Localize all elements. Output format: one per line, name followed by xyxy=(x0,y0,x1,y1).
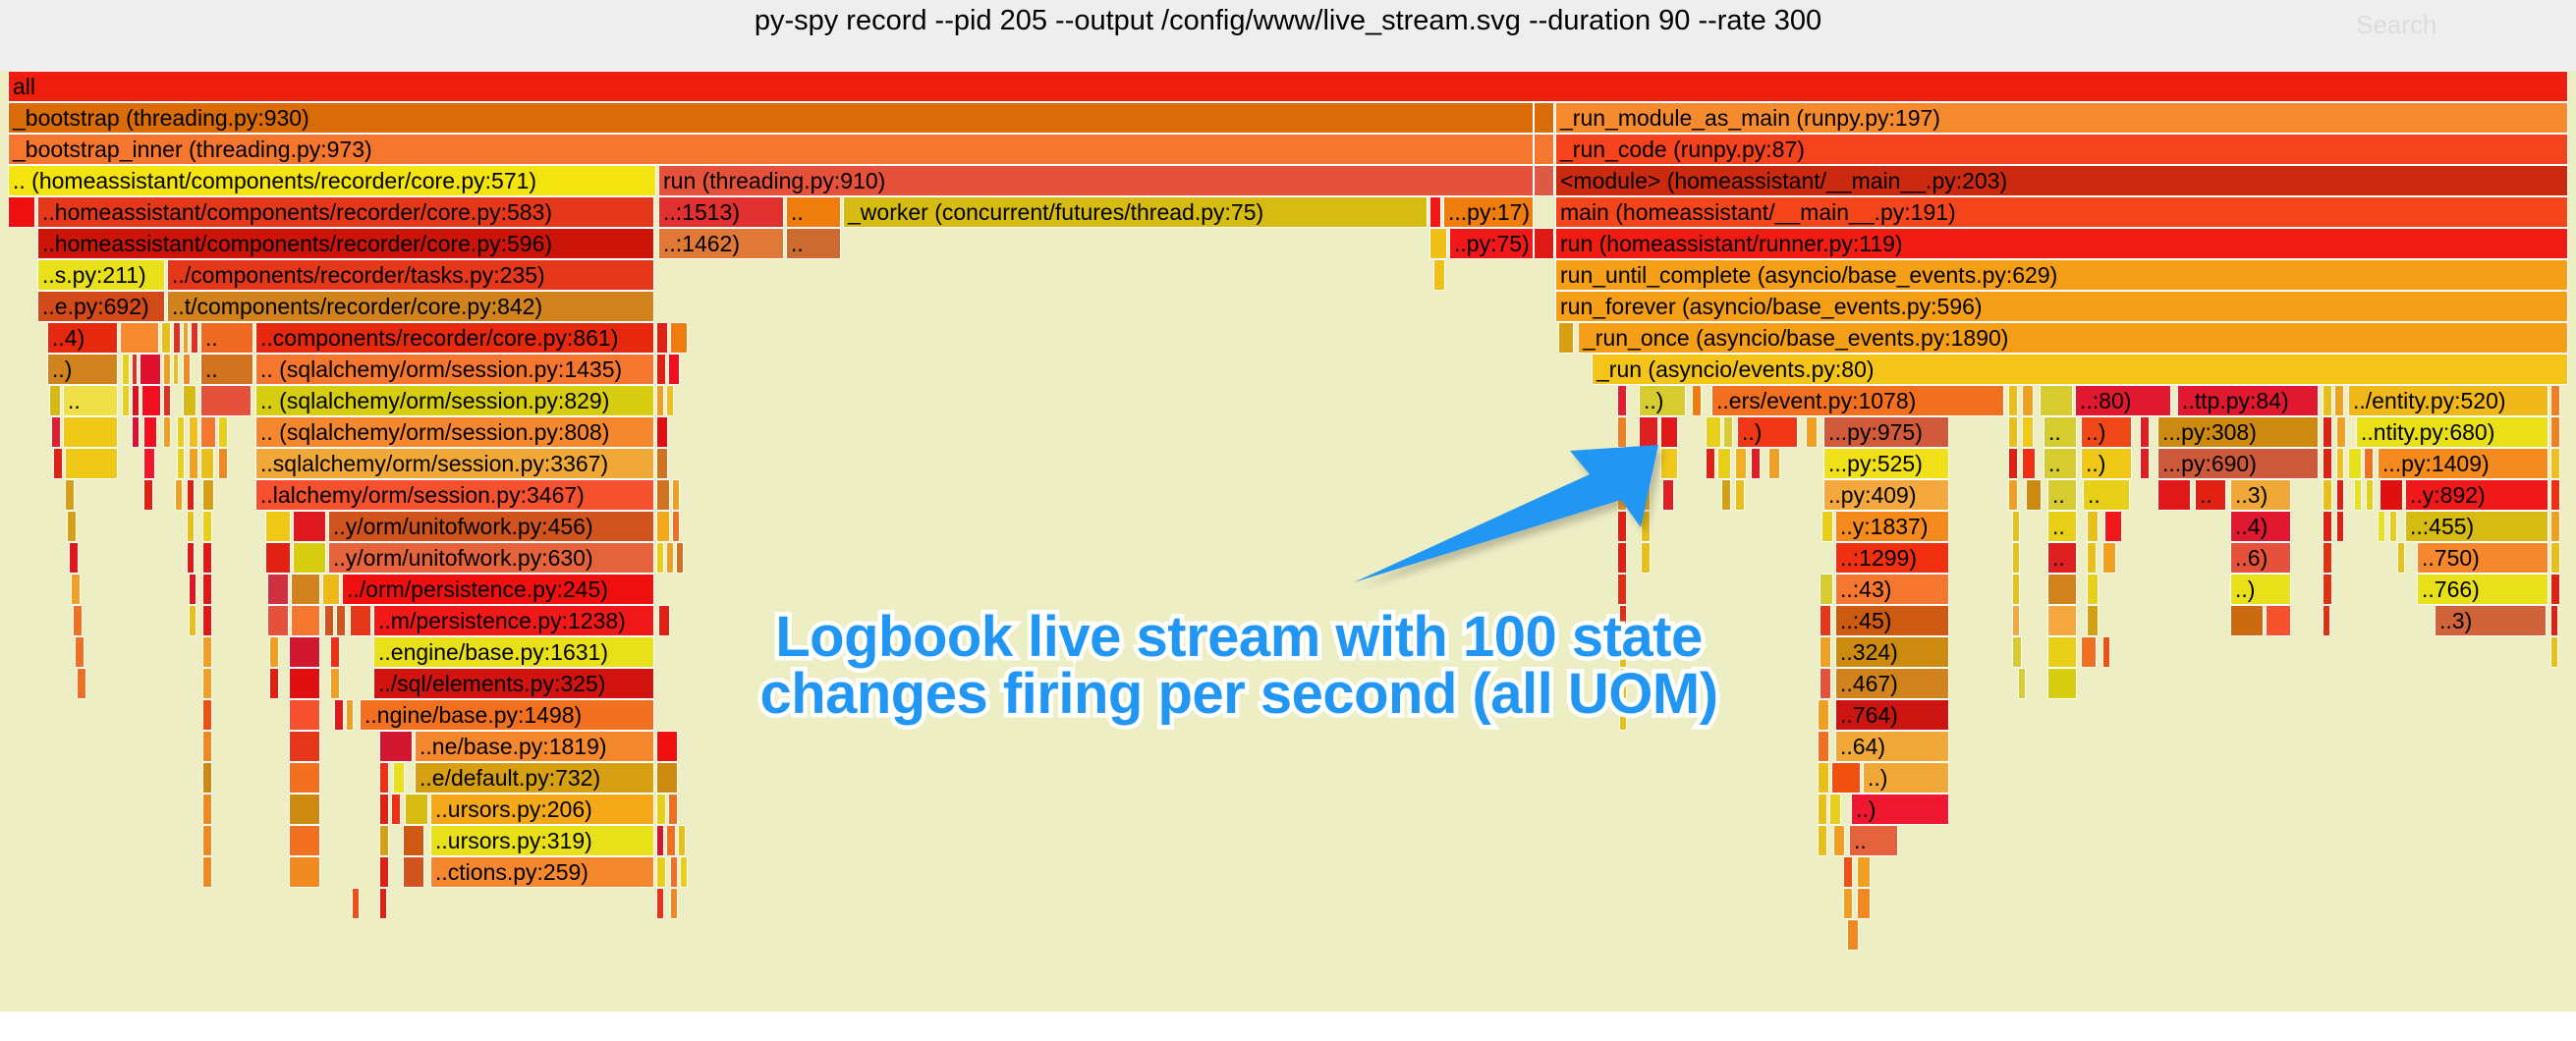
flame-frame-unlabeled[interactable] xyxy=(183,385,196,416)
flame-frame[interactable]: ../sql/elements.py:325) xyxy=(373,668,654,699)
flame-frame[interactable]: ..:455) xyxy=(2405,511,2548,542)
flame-frame-unlabeled[interactable] xyxy=(379,856,389,888)
flame-frame[interactable]: ..4) xyxy=(2230,511,2291,542)
flame-frame[interactable]: ..ursors.py:319) xyxy=(430,825,654,856)
flame-frame[interactable]: all xyxy=(8,71,2568,102)
flame-frame[interactable]: ..:1462) xyxy=(658,228,784,259)
flame-frame-unlabeled[interactable] xyxy=(289,762,320,794)
flame-frame[interactable]: ..:1513) xyxy=(658,196,784,228)
flame-frame-unlabeled[interactable] xyxy=(2008,479,2018,511)
flame-frame-unlabeled[interactable] xyxy=(2550,416,2560,448)
flame-frame-unlabeled[interactable] xyxy=(1843,888,1853,919)
flame-frame-unlabeled[interactable] xyxy=(161,322,171,354)
flame-frame-unlabeled[interactable] xyxy=(656,794,666,825)
flame-frame[interactable]: _bootstrap (threading.py:930) xyxy=(8,102,1534,134)
flame-frame-unlabeled[interactable] xyxy=(2336,511,2344,542)
flame-frame-unlabeled[interactable] xyxy=(2040,385,2073,416)
flame-frame-unlabeled[interactable] xyxy=(2550,448,2560,479)
flame-frame[interactable]: ..e.py:692) xyxy=(37,291,165,322)
flame-frame-unlabeled[interactable] xyxy=(202,825,212,856)
flame-frame-unlabeled[interactable] xyxy=(1619,605,1627,636)
flame-frame[interactable]: _bootstrap_inner (threading.py:973) xyxy=(8,134,1534,165)
flame-frame-unlabeled[interactable] xyxy=(672,511,680,542)
flame-frame-unlabeled[interactable] xyxy=(73,605,83,636)
flame-frame[interactable]: ..) xyxy=(47,354,118,385)
flame-frame-unlabeled[interactable] xyxy=(1818,794,1827,825)
flame-frame[interactable]: ...py:525) xyxy=(1823,448,1949,479)
flame-frame-unlabeled[interactable] xyxy=(656,542,664,574)
flame-frame-unlabeled[interactable] xyxy=(379,888,387,919)
flame-frame-unlabeled[interactable] xyxy=(2047,668,2077,699)
flame-frame-unlabeled[interactable] xyxy=(189,574,196,605)
flame-frame-unlabeled[interactable] xyxy=(267,574,289,605)
flame-frame-unlabeled[interactable] xyxy=(1818,699,1829,731)
flame-frame-unlabeled[interactable] xyxy=(2012,574,2020,605)
flame-frame-unlabeled[interactable] xyxy=(2087,605,2099,636)
flame-frame-unlabeled[interactable] xyxy=(289,636,320,668)
flame-frame-unlabeled[interactable] xyxy=(1829,794,1841,825)
flame-frame[interactable]: ..324) xyxy=(1835,636,1949,668)
flame-frame-unlabeled[interactable] xyxy=(379,731,413,762)
flame-frame-unlabeled[interactable] xyxy=(163,385,171,416)
flame-frame-unlabeled[interactable] xyxy=(187,511,195,542)
flame-frame[interactable]: ../components/recorder/tasks.py:235) xyxy=(167,259,654,291)
flame-frame-unlabeled[interactable] xyxy=(189,605,196,636)
flame-frame[interactable]: _run_code (runpy.py:87) xyxy=(1555,134,2568,165)
flame-frame-unlabeled[interactable] xyxy=(656,416,668,448)
flame-frame-unlabeled[interactable] xyxy=(1857,856,1871,888)
flame-frame-unlabeled[interactable] xyxy=(2012,605,2020,636)
flame-frame[interactable]: ..engine/base.py:1631) xyxy=(373,636,654,668)
flame-frame-unlabeled[interactable] xyxy=(202,479,214,511)
flame-frame-unlabeled[interactable] xyxy=(2323,385,2332,416)
flame-frame[interactable]: ..:45) xyxy=(1835,605,1949,636)
flame-frame-unlabeled[interactable] xyxy=(1706,448,1715,479)
flame-frame-unlabeled[interactable] xyxy=(140,354,161,385)
flame-frame[interactable]: ..) xyxy=(1639,385,1686,416)
flame-frame[interactable]: ..750) xyxy=(2417,542,2548,574)
flame-frame[interactable]: ..:43) xyxy=(1835,574,1949,605)
flame-frame-unlabeled[interactable] xyxy=(293,542,326,574)
flame-frame-unlabeled[interactable] xyxy=(2323,605,2330,636)
flame-frame-unlabeled[interactable] xyxy=(352,888,360,919)
flame-frame-unlabeled[interactable] xyxy=(1723,416,1733,448)
flame-frame[interactable]: ..ursors.py:206) xyxy=(430,794,654,825)
flame-frame-unlabeled[interactable] xyxy=(2336,416,2346,448)
flame-frame[interactable]: .. xyxy=(200,354,253,385)
flame-frame[interactable]: ..e/default.py:732) xyxy=(415,762,654,794)
flame-frame[interactable]: _worker (concurrent/futures/thread.py:75… xyxy=(843,196,1428,228)
flame-frame[interactable]: ../entity.py:520) xyxy=(2348,385,2548,416)
flame-frame[interactable]: ..467) xyxy=(1835,668,1949,699)
flame-frame[interactable]: .. (sqlalchemy/orm/session.py:829) xyxy=(255,385,654,416)
flame-frame-unlabeled[interactable] xyxy=(656,385,664,416)
flame-frame-unlabeled[interactable] xyxy=(163,416,171,448)
flame-frame-unlabeled[interactable] xyxy=(668,354,680,385)
flame-frame[interactable]: ..homeassistant/components/recorder/core… xyxy=(37,196,654,228)
flame-frame-unlabeled[interactable] xyxy=(163,354,171,385)
flame-frame-unlabeled[interactable] xyxy=(2012,542,2020,574)
flame-frame-unlabeled[interactable] xyxy=(187,542,195,574)
flame-frame-unlabeled[interactable] xyxy=(218,416,228,448)
flame-frame-unlabeled[interactable] xyxy=(1619,636,1627,668)
flame-frame[interactable]: ..y/orm/unitofwork.py:630) xyxy=(328,542,654,574)
flame-frame-unlabeled[interactable] xyxy=(1721,479,1731,511)
flame-frame-unlabeled[interactable] xyxy=(2336,479,2344,511)
flame-frame-unlabeled[interactable] xyxy=(1847,919,1859,951)
flame-frame-unlabeled[interactable] xyxy=(183,354,191,385)
flame-frame[interactable]: ..764) xyxy=(1835,699,1949,731)
flame-frame-unlabeled[interactable] xyxy=(403,856,424,888)
flame-frame-unlabeled[interactable] xyxy=(346,699,354,731)
flame-frame[interactable]: main (homeassistant/__main__.py:191) xyxy=(1555,196,2568,228)
flame-frame-unlabeled[interactable] xyxy=(2550,511,2560,542)
flame-frame-unlabeled[interactable] xyxy=(2266,605,2291,636)
flame-frame-unlabeled[interactable] xyxy=(1843,856,1853,888)
flame-frame-unlabeled[interactable] xyxy=(2012,636,2022,668)
flame-frame-unlabeled[interactable] xyxy=(672,479,680,511)
flame-frame-unlabeled[interactable] xyxy=(656,888,664,919)
flame-frame-unlabeled[interactable] xyxy=(202,762,212,794)
flame-frame-unlabeled[interactable] xyxy=(656,856,666,888)
flame-frame-unlabeled[interactable] xyxy=(1617,542,1627,574)
flame-frame-unlabeled[interactable] xyxy=(1617,385,1627,416)
flame-frame[interactable]: ..py:409) xyxy=(1823,479,1949,511)
flame-frame[interactable]: ...py:1409) xyxy=(2378,448,2548,479)
flame-frame-unlabeled[interactable] xyxy=(1735,479,1745,511)
flame-frame[interactable]: ..) xyxy=(1863,762,1949,794)
flame-frame-unlabeled[interactable] xyxy=(2104,511,2122,542)
flame-frame[interactable]: <module> (homeassistant/__main__.py:203) xyxy=(1555,165,2568,196)
flame-frame[interactable]: ..y/orm/unitofwork.py:456) xyxy=(328,511,654,542)
flame-frame[interactable]: .. (homeassistant/components/recorder/co… xyxy=(8,165,656,196)
flame-frame-unlabeled[interactable] xyxy=(2102,542,2116,574)
flame-frame-unlabeled[interactable] xyxy=(379,794,389,825)
flame-frame-unlabeled[interactable] xyxy=(67,511,77,542)
flame-frame-unlabeled[interactable] xyxy=(202,542,212,574)
flame-frame[interactable]: _run (asyncio/events.py:80) xyxy=(1592,354,2568,385)
flame-frame-unlabeled[interactable] xyxy=(656,825,664,856)
flame-frame-unlabeled[interactable] xyxy=(2550,574,2560,605)
flame-frame-unlabeled[interactable] xyxy=(1534,228,1554,259)
flame-frame-unlabeled[interactable] xyxy=(2380,479,2403,511)
flame-frame-unlabeled[interactable] xyxy=(69,542,79,574)
flame-frame-unlabeled[interactable] xyxy=(120,322,159,354)
flame-frame[interactable]: .. xyxy=(2044,448,2077,479)
flame-frame-unlabeled[interactable] xyxy=(2323,448,2332,479)
flame-frame-unlabeled[interactable] xyxy=(267,605,289,636)
flame-frame[interactable]: ..6) xyxy=(2230,542,2291,574)
flame-frame-unlabeled[interactable] xyxy=(143,479,153,511)
flame-frame-unlabeled[interactable] xyxy=(2323,574,2332,605)
flame-frame-unlabeled[interactable] xyxy=(132,354,138,385)
flame-frame-unlabeled[interactable] xyxy=(1833,825,1845,856)
flame-frame-unlabeled[interactable] xyxy=(1706,416,1721,448)
flame-frame-unlabeled[interactable] xyxy=(668,794,678,825)
flame-frame-unlabeled[interactable] xyxy=(1641,542,1651,574)
flame-frame-unlabeled[interactable] xyxy=(324,605,334,636)
flame-frame-unlabeled[interactable] xyxy=(2334,385,2344,416)
flame-frame-unlabeled[interactable] xyxy=(1692,385,1702,416)
flame-frame[interactable]: .. xyxy=(2195,479,2226,511)
flame-frame-unlabeled[interactable] xyxy=(2087,511,2099,542)
flame-frame-unlabeled[interactable] xyxy=(2354,479,2362,511)
flame-frame[interactable]: ..4) xyxy=(47,322,118,354)
flame-frame-unlabeled[interactable] xyxy=(1641,479,1651,511)
flame-frame[interactable]: ..lalchemy/orm/session.py:3467) xyxy=(255,479,654,511)
flame-frame-unlabeled[interactable] xyxy=(2157,479,2191,511)
flame-frame-unlabeled[interactable] xyxy=(393,762,405,794)
flame-frame[interactable]: _run_once (asyncio/base_events.py:1890) xyxy=(1578,322,2568,354)
flame-frame-unlabeled[interactable] xyxy=(2026,479,2042,511)
flame-frame[interactable]: .. xyxy=(2047,511,2077,542)
flame-frame-unlabeled[interactable] xyxy=(670,856,678,888)
flame-frame-unlabeled[interactable] xyxy=(656,731,678,762)
flame-frame-unlabeled[interactable] xyxy=(177,448,185,479)
flame-frame-unlabeled[interactable] xyxy=(656,479,670,511)
flame-frame-unlabeled[interactable] xyxy=(1820,636,1831,668)
flame-frame-unlabeled[interactable] xyxy=(269,636,279,668)
flame-frame-unlabeled[interactable] xyxy=(1617,448,1627,479)
flame-frame-unlabeled[interactable] xyxy=(1818,762,1829,794)
flame-frame-unlabeled[interactable] xyxy=(122,354,130,385)
flame-frame-unlabeled[interactable] xyxy=(269,668,279,699)
flame-frame[interactable]: ..ntity.py:680) xyxy=(2356,416,2548,448)
flame-frame-unlabeled[interactable] xyxy=(202,511,212,542)
flame-frame-unlabeled[interactable] xyxy=(2364,448,2374,479)
flame-frame-unlabeled[interactable] xyxy=(2047,605,2077,636)
flame-frame-unlabeled[interactable] xyxy=(1534,134,1554,165)
flame-frame-unlabeled[interactable] xyxy=(2140,416,2150,448)
flame-frame-unlabeled[interactable] xyxy=(2018,668,2026,699)
flame-frame-unlabeled[interactable] xyxy=(293,511,326,542)
flame-frame-unlabeled[interactable] xyxy=(289,668,320,699)
flame-frame-unlabeled[interactable] xyxy=(1660,416,1678,448)
flame-frame-unlabeled[interactable] xyxy=(1617,416,1627,448)
flame-frame[interactable]: ..) xyxy=(2230,574,2291,605)
flame-frame-unlabeled[interactable] xyxy=(1821,511,1833,542)
flame-frame-unlabeled[interactable] xyxy=(71,574,81,605)
flame-frame[interactable]: .. xyxy=(2047,542,2077,574)
flame-frame[interactable]: run (threading.py:910) xyxy=(658,165,1534,196)
flame-frame-unlabeled[interactable] xyxy=(656,762,678,794)
flame-frame[interactable]: .. xyxy=(786,228,841,259)
flame-frame-unlabeled[interactable] xyxy=(289,731,320,762)
flame-frame-unlabeled[interactable] xyxy=(202,731,212,762)
flame-frame-unlabeled[interactable] xyxy=(658,605,670,636)
flame-frame-unlabeled[interactable] xyxy=(2348,448,2362,479)
flame-frame-unlabeled[interactable] xyxy=(391,794,401,825)
flame-frame-unlabeled[interactable] xyxy=(2366,479,2374,511)
flame-frame-unlabeled[interactable] xyxy=(1534,165,1554,196)
flame-frame-unlabeled[interactable] xyxy=(2087,542,2097,574)
flame-frame-unlabeled[interactable] xyxy=(2550,479,2560,511)
flame-frame[interactable]: ...py:308) xyxy=(2157,416,2319,448)
flame-frame-unlabeled[interactable] xyxy=(202,636,212,668)
flame-frame-unlabeled[interactable] xyxy=(53,448,63,479)
flame-frame-unlabeled[interactable] xyxy=(2012,511,2020,542)
flame-frame-unlabeled[interactable] xyxy=(2008,448,2018,479)
flame-frame-unlabeled[interactable] xyxy=(1617,479,1627,511)
flame-frame-unlabeled[interactable] xyxy=(656,448,668,479)
flame-frame-unlabeled[interactable] xyxy=(49,385,61,416)
flame-frame-unlabeled[interactable] xyxy=(2102,636,2110,668)
flame-frame-unlabeled[interactable] xyxy=(656,322,668,354)
flame-frame-unlabeled[interactable] xyxy=(2323,542,2332,574)
flamegraph-canvas[interactable]: all_bootstrap (threading.py:930)_run_mod… xyxy=(0,71,2576,1012)
flame-frame-unlabeled[interactable] xyxy=(63,416,118,448)
flame-frame-unlabeled[interactable] xyxy=(200,448,214,479)
flame-frame-unlabeled[interactable] xyxy=(2323,416,2332,448)
flame-frame[interactable]: ..homeassistant/components/recorder/core… xyxy=(37,228,654,259)
flame-frame-unlabeled[interactable] xyxy=(289,856,320,888)
flame-frame-unlabeled[interactable] xyxy=(141,385,161,416)
flame-frame-unlabeled[interactable] xyxy=(122,385,130,416)
flame-frame[interactable]: ..components/recorder/core.py:861) xyxy=(255,322,654,354)
flame-frame-unlabeled[interactable] xyxy=(177,416,185,448)
flame-frame-unlabeled[interactable] xyxy=(175,479,183,511)
flame-frame-unlabeled[interactable] xyxy=(2550,605,2558,636)
flame-frame[interactable]: ..y:1837) xyxy=(1835,511,1949,542)
flame-frame[interactable]: ..:80) xyxy=(2075,385,2171,416)
flame-frame-unlabeled[interactable] xyxy=(1806,416,1818,448)
flame-frame-unlabeled[interactable] xyxy=(289,794,320,825)
flame-frame-unlabeled[interactable] xyxy=(680,856,688,888)
flame-frame[interactable]: ..ttp.py:84) xyxy=(2177,385,2319,416)
flame-frame-unlabeled[interactable] xyxy=(2140,448,2150,479)
flame-frame-unlabeled[interactable] xyxy=(670,322,688,354)
flame-frame[interactable]: ..) xyxy=(2081,416,2132,448)
flame-frame[interactable]: ..m/persistence.py:1238) xyxy=(373,605,654,636)
flame-frame-unlabeled[interactable] xyxy=(200,416,216,448)
flame-frame[interactable]: .. xyxy=(2047,479,2077,511)
flame-frame-unlabeled[interactable] xyxy=(334,699,344,731)
flame-frame-unlabeled[interactable] xyxy=(2047,574,2077,605)
flame-frame-unlabeled[interactable] xyxy=(200,385,252,416)
flame-frame-unlabeled[interactable] xyxy=(1660,448,1678,479)
flame-frame-unlabeled[interactable] xyxy=(2087,574,2099,605)
flame-frame[interactable]: ..) xyxy=(2081,448,2132,479)
flame-frame-unlabeled[interactable] xyxy=(1735,448,1747,479)
flame-frame-unlabeled[interactable] xyxy=(1818,825,1827,856)
flame-frame-unlabeled[interactable] xyxy=(1820,605,1831,636)
flame-frame-unlabeled[interactable] xyxy=(1820,668,1831,699)
flame-frame[interactable]: .. xyxy=(63,385,118,416)
flame-frame-unlabeled[interactable] xyxy=(1558,322,1574,354)
flame-frame-unlabeled[interactable] xyxy=(379,762,389,794)
flame-frame-unlabeled[interactable] xyxy=(403,825,424,856)
flame-frame[interactable]: run_forever (asyncio/base_events.py:596) xyxy=(1555,291,2568,322)
flame-frame-unlabeled[interactable] xyxy=(350,605,371,636)
flame-frame[interactable]: ..py:75) xyxy=(1449,228,1534,259)
flame-frame-unlabeled[interactable] xyxy=(77,668,86,699)
flame-frame[interactable]: run_until_complete (asyncio/base_events.… xyxy=(1555,259,2568,291)
flame-frame-unlabeled[interactable] xyxy=(2008,385,2018,416)
flame-frame[interactable]: ..s.py:211) xyxy=(37,259,165,291)
flame-frame-unlabeled[interactable] xyxy=(143,416,157,448)
flame-frame[interactable]: ..3) xyxy=(2435,605,2547,636)
flame-frame-unlabeled[interactable] xyxy=(75,636,84,668)
flame-frame-unlabeled[interactable] xyxy=(187,479,195,511)
flame-frame-unlabeled[interactable] xyxy=(189,448,198,479)
flame-frame-unlabeled[interactable] xyxy=(676,542,684,574)
flame-frame-unlabeled[interactable] xyxy=(65,448,118,479)
flame-frame-unlabeled[interactable] xyxy=(189,416,198,448)
flame-frame[interactable]: .. (sqlalchemy/orm/session.py:808) xyxy=(255,416,654,448)
flame-frame[interactable]: .. (sqlalchemy/orm/session.py:1435) xyxy=(255,354,654,385)
flame-frame[interactable]: ..) xyxy=(1851,794,1949,825)
flame-frame[interactable]: .. xyxy=(1849,825,1898,856)
flame-frame-unlabeled[interactable] xyxy=(2378,511,2385,542)
flame-frame-unlabeled[interactable] xyxy=(202,794,212,825)
flame-frame-unlabeled[interactable] xyxy=(2323,479,2332,511)
flame-frame-unlabeled[interactable] xyxy=(2336,448,2344,479)
flame-frame-unlabeled[interactable] xyxy=(1639,448,1652,479)
flame-frame-unlabeled[interactable] xyxy=(291,574,320,605)
flame-frame-unlabeled[interactable] xyxy=(670,888,678,919)
flame-frame[interactable]: .. xyxy=(200,322,253,354)
flame-frame-unlabeled[interactable] xyxy=(1831,762,1861,794)
flame-frame-unlabeled[interactable] xyxy=(191,322,198,354)
flame-frame-unlabeled[interactable] xyxy=(1751,448,1761,479)
flame-frame-unlabeled[interactable] xyxy=(1429,196,1441,228)
search-input[interactable]: Search xyxy=(2356,10,2436,40)
flame-frame-unlabeled[interactable] xyxy=(1639,416,1658,448)
flame-frame[interactable]: ..t/components/recorder/core.py:842) xyxy=(167,291,654,322)
flame-frame[interactable]: .. xyxy=(2044,416,2077,448)
flame-frame-unlabeled[interactable] xyxy=(666,385,674,416)
flame-frame-unlabeled[interactable] xyxy=(379,825,389,856)
flame-frame[interactable]: ..:1299) xyxy=(1835,542,1949,574)
flame-frame-unlabeled[interactable] xyxy=(322,574,340,605)
flame-frame[interactable]: ..3) xyxy=(2230,479,2291,511)
flame-frame-unlabeled[interactable] xyxy=(2022,416,2034,448)
flame-frame-unlabeled[interactable] xyxy=(2230,605,2264,636)
flame-frame-unlabeled[interactable] xyxy=(2389,511,2397,542)
flame-frame-unlabeled[interactable] xyxy=(1820,574,1833,605)
flame-frame-unlabeled[interactable] xyxy=(405,794,428,825)
flame-frame[interactable]: ../orm/persistence.py:245) xyxy=(342,574,654,605)
flame-frame-unlabeled[interactable] xyxy=(1662,479,1674,511)
flame-frame-unlabeled[interactable] xyxy=(51,416,61,448)
flame-frame-unlabeled[interactable] xyxy=(183,322,189,354)
flame-frame-unlabeled[interactable] xyxy=(202,605,212,636)
flame-frame-unlabeled[interactable] xyxy=(1617,511,1627,542)
flame-frame-unlabeled[interactable] xyxy=(2397,542,2405,574)
flame-frame-unlabeled[interactable] xyxy=(265,542,291,574)
flame-frame-unlabeled[interactable] xyxy=(656,511,670,542)
flame-frame-unlabeled[interactable] xyxy=(1429,228,1447,259)
flame-frame[interactable]: ..766) xyxy=(2417,574,2548,605)
flame-frame[interactable]: ...py:690) xyxy=(2157,448,2319,479)
flame-frame[interactable]: ..ne/base.py:1819) xyxy=(415,731,654,762)
flame-frame-unlabeled[interactable] xyxy=(202,574,212,605)
flame-frame-unlabeled[interactable] xyxy=(2081,636,2097,668)
flame-frame-unlabeled[interactable] xyxy=(678,825,686,856)
flame-frame-unlabeled[interactable] xyxy=(1717,448,1731,479)
flame-frame[interactable]: _run_module_as_main (runpy.py:197) xyxy=(1555,102,2568,134)
flame-frame-unlabeled[interactable] xyxy=(132,416,140,448)
flame-frame-unlabeled[interactable] xyxy=(1617,574,1627,605)
flame-frame[interactable]: .. xyxy=(786,196,841,228)
flame-frame[interactable]: ..ngine/base.py:1498) xyxy=(360,699,654,731)
flame-frame-unlabeled[interactable] xyxy=(202,668,212,699)
flame-frame-unlabeled[interactable] xyxy=(1768,448,1780,479)
flame-frame-unlabeled[interactable] xyxy=(1619,668,1627,699)
flame-frame-unlabeled[interactable] xyxy=(218,448,228,479)
flame-frame-unlabeled[interactable] xyxy=(2008,416,2018,448)
flame-frame-unlabeled[interactable] xyxy=(132,385,140,416)
